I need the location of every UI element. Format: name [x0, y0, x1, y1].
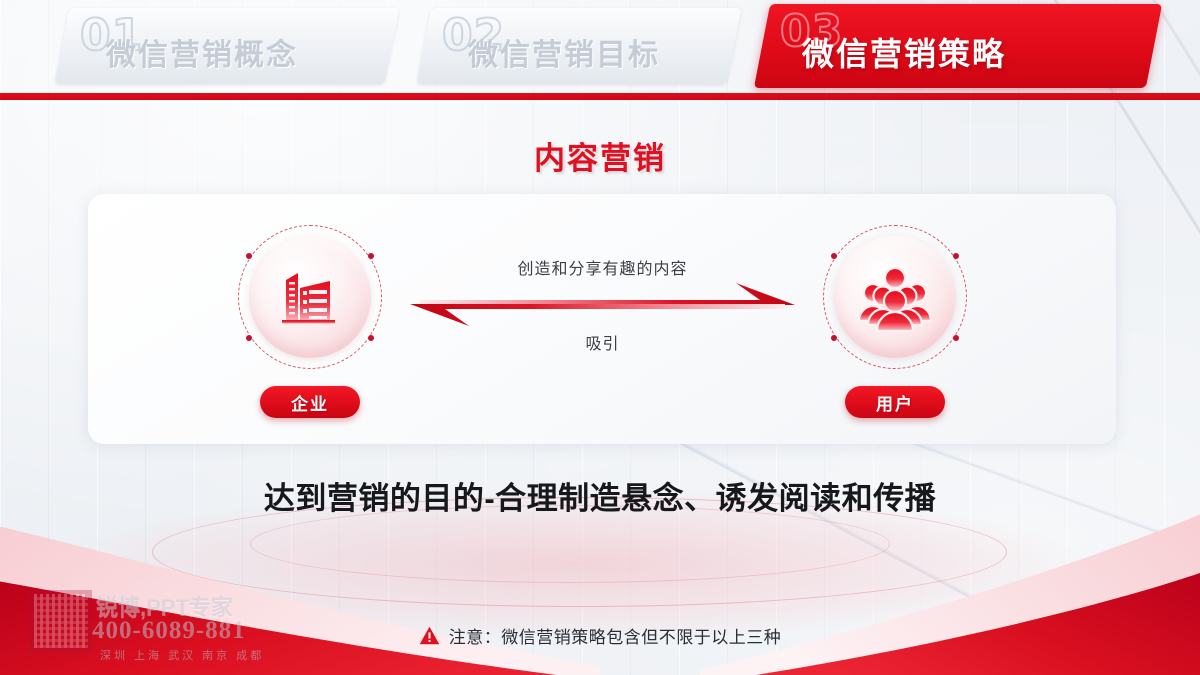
footer-note: 注意：微信营销策略包含但不限于以上三种 [0, 623, 1200, 648]
tab-wechat-marketing-strategy[interactable]: 03 微信营销策略 [754, 4, 1162, 88]
slide-root: 01 微信营销概念 02 微信营销目标 03 微信营销策略 内容营销 [0, 0, 1200, 675]
node-label-pill-user: 用户 [845, 386, 945, 418]
user-group-icon [856, 260, 934, 334]
tab-label-01: 微信营销概念 [106, 30, 298, 74]
ring-dot [368, 253, 374, 259]
tab-wechat-marketing-goals[interactable]: 02 微信营销目标 [417, 8, 742, 84]
ring-dot [831, 253, 837, 259]
icon-circle-user [834, 236, 956, 358]
node-label-pill-enterprise: 企业 [260, 386, 360, 418]
ring-dot [953, 335, 959, 341]
ring-dot [831, 335, 837, 341]
arrow-pair-icon [410, 281, 795, 337]
section-title: 内容营销 [0, 133, 1200, 178]
tab-wechat-marketing-concept[interactable]: 01 微信营销概念 [55, 8, 400, 84]
watermark-cities: 深圳 上海 武汉 南京 成都 [100, 647, 264, 663]
tab-bar-accent-line [0, 93, 1200, 100]
tab-label-03: 微信营销策略 [802, 29, 1006, 75]
section-tab-bar: 01 微信营销概念 02 微信营销目标 03 微信营销策略 [0, 0, 1200, 100]
tab-label-02: 微信营销目标 [468, 30, 660, 74]
ring-dot [953, 253, 959, 259]
office-building-icon [273, 260, 347, 334]
arrow-label-create-share: 创造和分享有趣的内容 [410, 255, 795, 279]
bidirectional-arrow-group: 创造和分享有趣的内容 吸引 [410, 255, 795, 365]
ring-dot [246, 253, 252, 259]
arrow-label-attract: 吸引 [410, 330, 795, 354]
footer-note-text: 注意：微信营销策略包含但不限于以上三种 [449, 623, 782, 648]
icon-circle-enterprise [249, 236, 371, 358]
warning-triangle-icon [419, 626, 440, 645]
ring-dot [246, 335, 252, 341]
tagline-text: 达到营销的目的-合理制造悬念、诱发阅读和传播 [0, 473, 1200, 518]
ring-dot [368, 335, 374, 341]
